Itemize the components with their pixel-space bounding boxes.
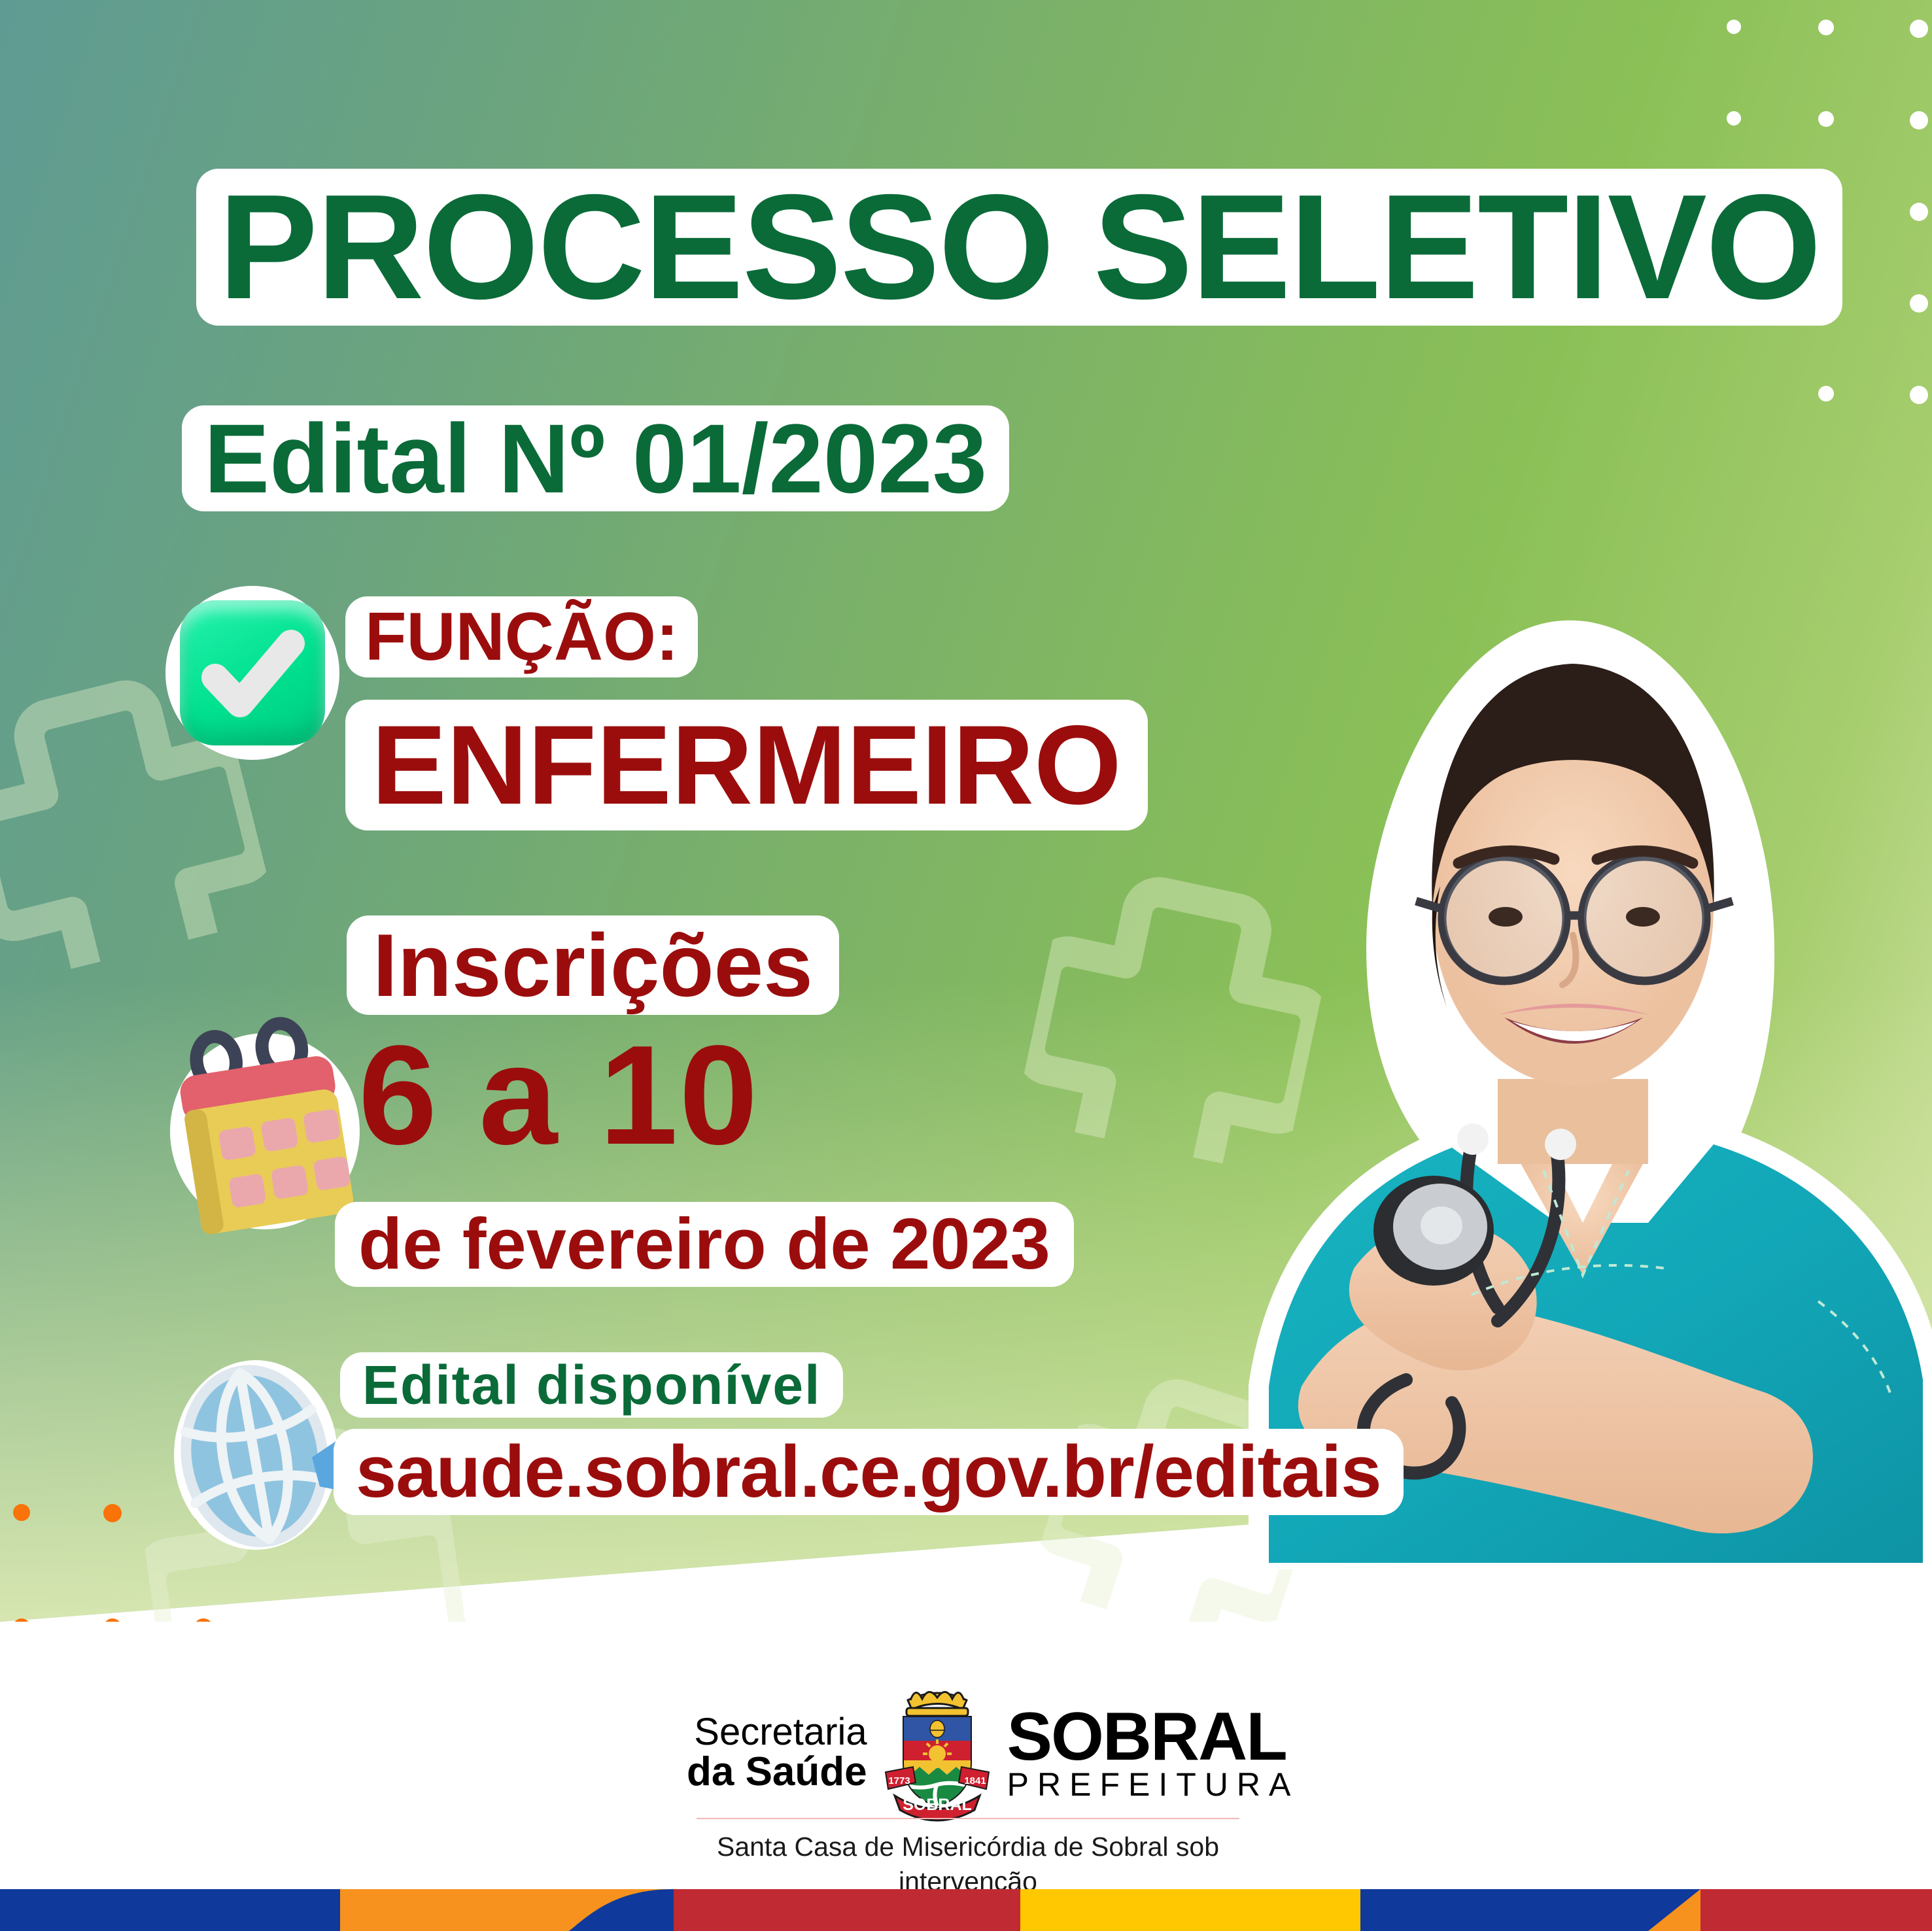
secretaria-saude-logo: Secretaria da Saúde [687,1713,867,1792]
check-circle-icon [134,556,370,791]
page-title: PROCESSO SELETIVO [196,169,1842,326]
role-label-text: FUNÇÃO: [365,599,678,675]
stripe-segment-yellow [1020,1889,1360,1931]
role-value: ENFERMEIRO [345,700,1148,830]
edital-subtitle-text: Edital Nº 01/2023 [204,403,987,513]
role-value-text: ENFERMEIRO [371,702,1122,828]
stripe-segment-red-2 [1700,1889,1932,1931]
prefeitura-line1: SOBRAL [1007,1705,1300,1769]
footer-logos: Secretaria da Saúde [687,1681,1299,1824]
secretaria-line2: da Saúde [687,1751,867,1792]
secretaria-line1: Secretaria [687,1713,867,1751]
registration-range-text: 6 a 10 [358,1016,759,1174]
registration-range: 6 a 10 [335,1021,783,1168]
edital-subtitle: Edital Nº 01/2023 [182,405,1009,511]
checkmark-glyph [180,600,325,745]
stripe-segment-blue [0,1889,340,1931]
sobral-coat-of-arms: 1773 1841 SOBRAL [882,1681,993,1824]
coat-year-left: 1773 [888,1775,910,1786]
footer: Secretaria da Saúde [0,1622,1932,1931]
page-title-text: PROCESSO SELETIVO [218,164,1820,330]
nurse-photo [1190,451,1932,1569]
registration-month: de fevereiro de 2023 [335,1202,1074,1287]
prefeitura-line2: PREFEITURA [1007,1769,1300,1801]
registration-label: Inscrições [347,915,839,1015]
stripe-segment-orange [340,1889,674,1931]
coat-year-right: 1841 [964,1775,986,1786]
availability-label-text: Edital disponível [362,1354,821,1416]
stripe-segment-red [674,1889,1020,1931]
coat-name: SOBRAL [903,1796,972,1814]
role-label: FUNÇÃO: [345,596,698,677]
prefeitura-sobral-logo: SOBRAL PREFEITURA [1007,1705,1300,1800]
registration-month-text: de fevereiro de 2023 [358,1204,1050,1284]
edital-url[interactable]: saude.sobral.ce.gov.br/editais [334,1429,1404,1515]
stripe-segment-blue-2 [1360,1889,1700,1931]
availability-label: Edital disponível [340,1352,843,1418]
edital-url-text: saude.sobral.ce.gov.br/editais [356,1431,1381,1512]
bottom-color-stripe [0,1889,1932,1931]
footer-divider [697,1818,1239,1819]
poster-root: PROCESSO SELETIVO Edital Nº 01/2023 FUNÇ… [0,0,1932,1931]
registration-label-text: Inscrições [373,915,813,1015]
